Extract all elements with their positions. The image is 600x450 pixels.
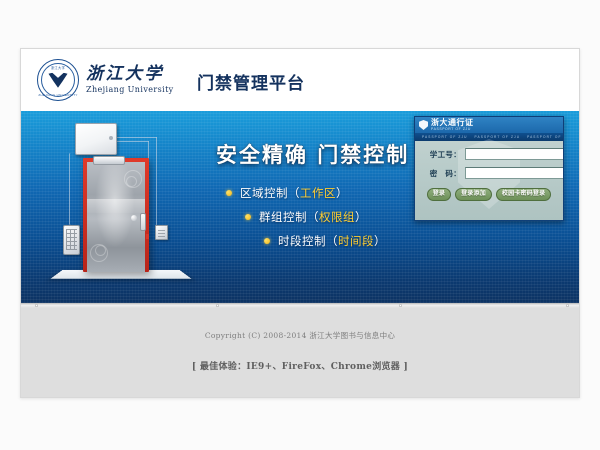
- logo-chinese-name: 浙江大学: [86, 66, 174, 83]
- wire-controller-top: [115, 137, 157, 138]
- username-row: 学工号：: [421, 148, 557, 160]
- footer-browser-note: [ 最佳体验：IE9+、FireFox、Chrome浏览器 ]: [21, 359, 579, 372]
- password-label: 密 码：: [421, 168, 465, 179]
- footer-node: [35, 304, 38, 307]
- door-frame: [83, 158, 149, 272]
- hero-feature-item: 时段控制（时间段）: [264, 233, 386, 249]
- door-decor-swirl: [95, 245, 106, 256]
- password-input[interactable]: [465, 167, 564, 179]
- hero-feature-text: 时段控制（时间段）: [278, 233, 386, 249]
- wire-controller-top-2: [115, 141, 149, 142]
- username-label: 学工号：: [421, 149, 465, 160]
- login-add-button[interactable]: 登录添加: [455, 188, 492, 201]
- login-panel-decor-strip: PASSPORT OF ZJU PASSPORT OF ZJU PASSPORT…: [415, 133, 563, 141]
- bullet-dot-icon: [264, 238, 270, 244]
- footer-node: [216, 304, 219, 307]
- campus-card-login-button[interactable]: 校园卡密码登录: [496, 188, 551, 201]
- keypad-icon: [63, 225, 80, 255]
- door-handle-icon: [140, 213, 146, 231]
- footer-node: [399, 304, 402, 307]
- seal-arc-top-label: 浙江大学: [51, 65, 65, 70]
- login-panel-title-en: PASSPORT OF ZJU: [431, 128, 474, 131]
- seal-arc-bottom-label: ZHEJIANG UNIVERSITY: [38, 93, 77, 97]
- university-seal-icon: 浙江大学 ZHEJIANG UNIVERSITY: [37, 59, 79, 101]
- keypad-keys: [66, 229, 77, 250]
- footer-copyright: Copyright (C) 2008-2014 浙江大学图书与信息中心: [21, 330, 579, 341]
- login-panel-header: 浙大通行证 PASSPORT OF ZJU: [415, 117, 563, 133]
- password-row: 密 码：: [421, 167, 557, 179]
- site-footer: Copyright (C) 2008-2014 浙江大学图书与信息中心 [ 最佳…: [21, 303, 579, 398]
- hero-feature-item: 群组控制（权限组）: [245, 209, 386, 225]
- strip-text: PASSPORT OF ZJU: [527, 135, 563, 139]
- hero-feature-item: 区域控制（工作区）: [226, 185, 386, 201]
- username-input[interactable]: [465, 148, 564, 160]
- shield-icon: [419, 120, 428, 130]
- hero-feature-text: 区域控制（工作区）: [240, 185, 348, 201]
- strip-text: PASSPORT OF ZJU: [422, 135, 468, 139]
- door-knob-icon: [131, 215, 137, 221]
- door-decor-swirl: [126, 176, 137, 187]
- card-reader-icon: [155, 225, 168, 240]
- site-header: 浙江大学 ZHEJIANG UNIVERSITY 浙江大学 Zhejiang U…: [21, 49, 579, 111]
- wire-controller-to-keypad: [69, 153, 72, 225]
- page-title: 门禁管理平台: [197, 69, 305, 94]
- bullet-dot-icon: [245, 214, 251, 220]
- university-logo[interactable]: 浙江大学 ZHEJIANG UNIVERSITY 浙江大学 Zhejiang U…: [37, 59, 174, 101]
- hero-banner: 安全精确 门禁控制 区域控制（工作区） 群组控制（权限组） 时段控制（时间段） …: [21, 111, 579, 303]
- page-card: 浙江大学 ZHEJIANG UNIVERSITY 浙江大学 Zhejiang U…: [20, 48, 580, 398]
- login-button[interactable]: 登录: [427, 188, 451, 201]
- login-button-group: 登录 登录添加 校园卡密码登录: [421, 186, 557, 201]
- strip-text: PASSPORT OF ZJU: [475, 135, 521, 139]
- wire-controller-to-reader: [156, 137, 157, 225]
- seal-bird-icon: [49, 73, 68, 88]
- logo-english-name: Zhejiang University: [86, 86, 174, 94]
- login-panel-title-cn: 浙大通行证: [431, 119, 474, 127]
- footer-node: [566, 304, 569, 307]
- login-form: 学工号： 密 码： 登录 登录添加 校园卡密码登录: [415, 141, 563, 201]
- hero-headline: 安全精确 门禁控制: [216, 139, 409, 169]
- login-panel-title-block: 浙大通行证 PASSPORT OF ZJU: [431, 119, 474, 131]
- door-status-led: [146, 234, 149, 239]
- login-panel: 浙大通行证 PASSPORT OF ZJU PASSPORT OF ZJU PA…: [414, 116, 564, 221]
- door-closer-icon: [93, 156, 125, 165]
- controller-box-icon: [75, 123, 117, 155]
- access-control-illustration: [43, 117, 193, 297]
- bullet-dot-icon: [226, 190, 232, 196]
- footer-node-row: [21, 304, 579, 307]
- hero-feature-list: 区域控制（工作区） 群组控制（权限组） 时段控制（时间段）: [226, 185, 386, 257]
- hero-feature-text: 群组控制（权限组）: [259, 209, 367, 225]
- logo-text-block: 浙江大学 Zhejiang University: [86, 66, 174, 94]
